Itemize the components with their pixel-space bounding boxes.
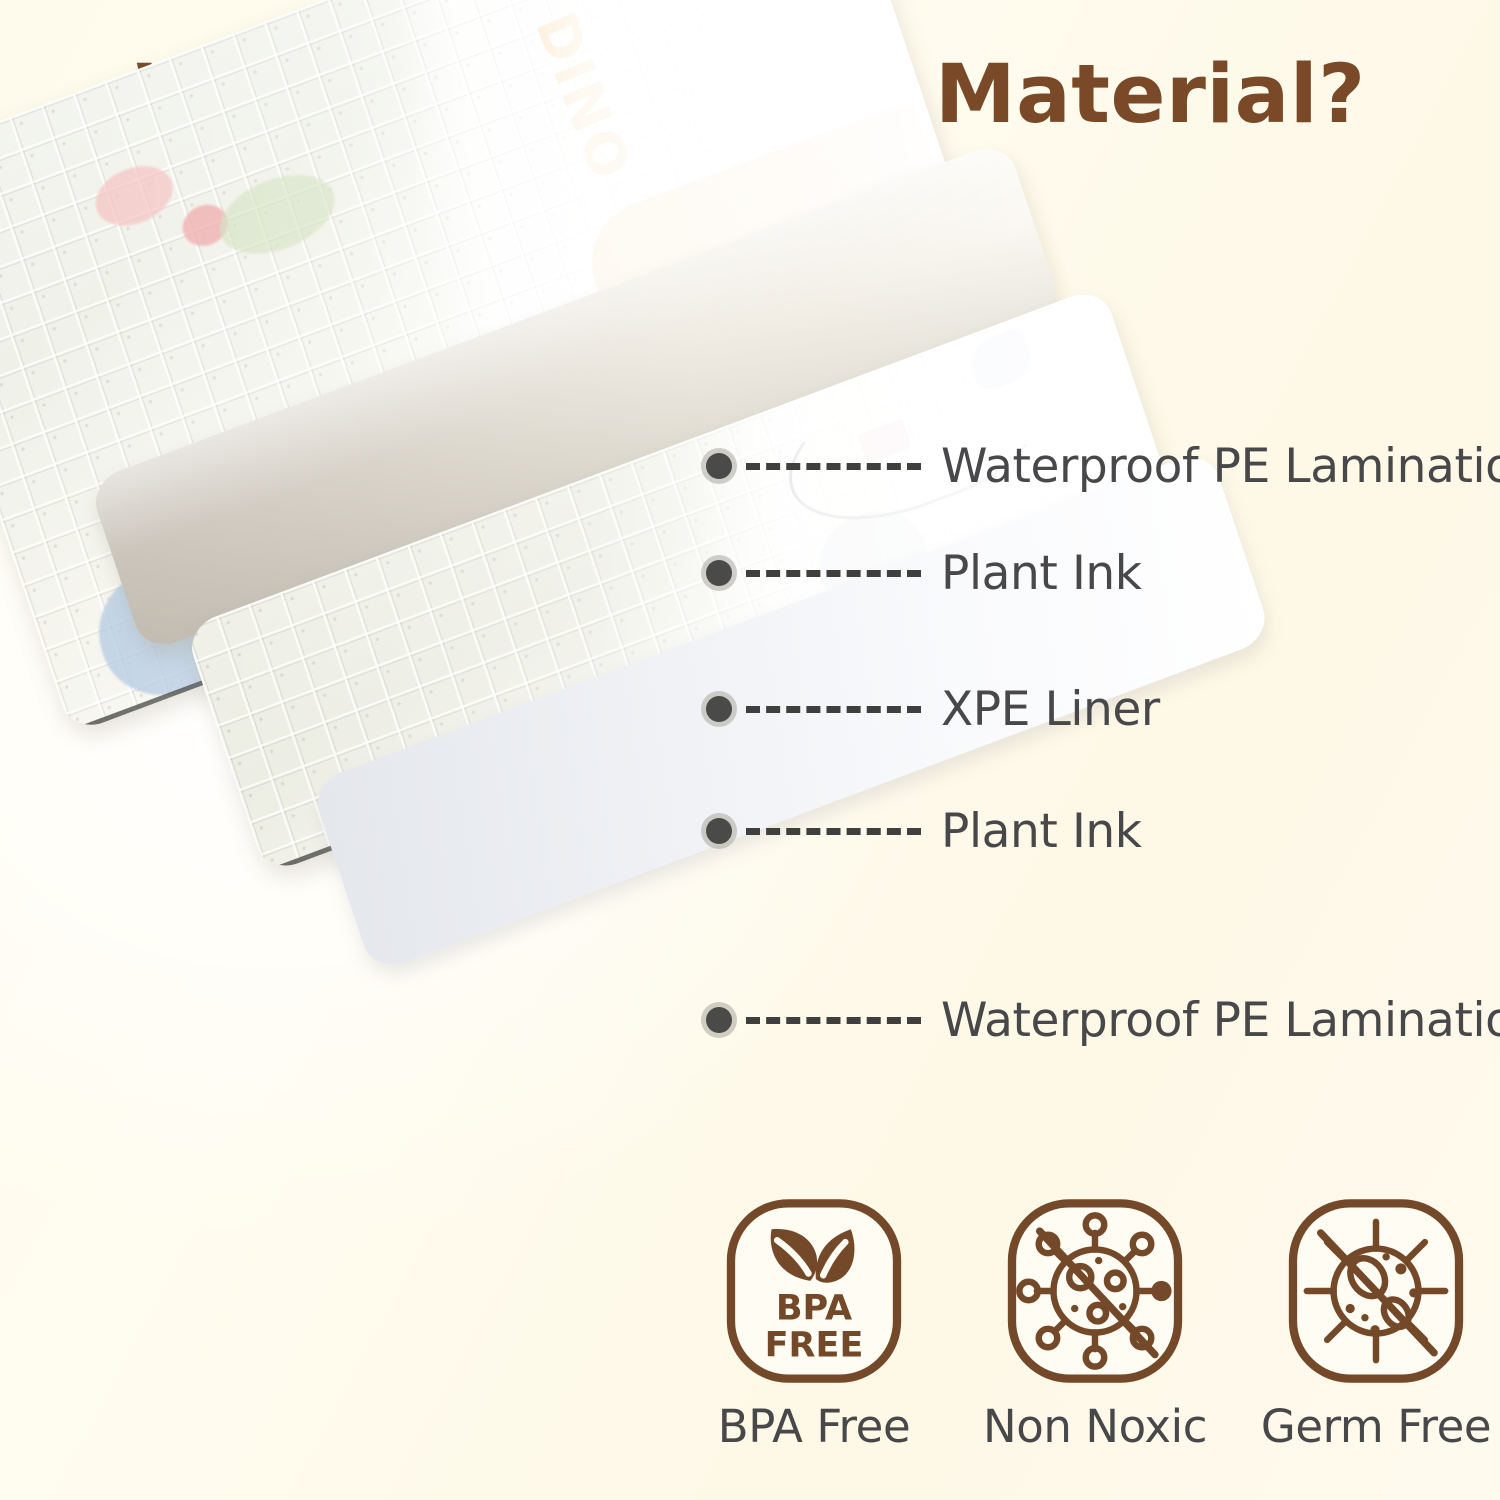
- callout-row-xpe-liner: XPE Liner: [706, 679, 1160, 739]
- callout-dot-icon: [706, 696, 732, 722]
- virus-slashed-icon: [1002, 1196, 1188, 1386]
- badge-germ-free: Germ Free: [1262, 1196, 1490, 1453]
- callout-dashed-leader: [746, 1017, 921, 1024]
- callout-row-plant-ink-bottom: Plant Ink: [706, 801, 1142, 861]
- callout-dot-icon: [706, 1007, 732, 1033]
- badge-label: Non Noxic: [983, 1400, 1207, 1453]
- callout-dot-icon: [706, 560, 732, 586]
- badge-label: BPA Free: [718, 1400, 911, 1453]
- callout-dashed-leader: [746, 828, 921, 835]
- badge-bpa-free: BPA FREE BPA Free: [700, 1196, 928, 1453]
- infographic-canvas: Why Choose XPE Material? DINO: [0, 0, 1500, 1500]
- badge-inner-line1: BPA: [776, 1288, 852, 1329]
- callout-dot-icon: [706, 818, 732, 844]
- callout-row-waterproof-pe-lamination-bottom: Waterproof PE Lamination: [706, 990, 1500, 1050]
- callout-label: Waterproof PE Lamination: [941, 439, 1500, 494]
- callout-label: Waterproof PE Lamination: [941, 993, 1500, 1048]
- callout-label: Plant Ink: [941, 546, 1142, 601]
- leaf-bpa-free-icon: BPA FREE: [721, 1196, 907, 1386]
- product-layer-stack-photo: DINO: [0, 150, 800, 1250]
- badge-inner-line2: FREE: [765, 1324, 864, 1365]
- germ-slashed-icon: [1283, 1196, 1469, 1386]
- badge-label: Germ Free: [1261, 1400, 1491, 1453]
- callout-dashed-leader: [746, 706, 921, 713]
- callout-label: Plant Ink: [941, 804, 1142, 859]
- callout-dashed-leader: [746, 463, 921, 470]
- certification-badge-group: BPA FREE BPA Free: [700, 1196, 1490, 1486]
- callout-row-waterproof-pe-lamination-top: Waterproof PE Lamination: [706, 436, 1500, 496]
- callout-dot-icon: [706, 453, 732, 479]
- callout-dashed-leader: [746, 570, 921, 577]
- callout-row-plant-ink-top: Plant Ink: [706, 543, 1142, 603]
- callout-list: Waterproof PE Lamination Plant Ink XPE L…: [706, 0, 1500, 1120]
- badge-non-noxic: Non Noxic: [981, 1196, 1209, 1453]
- callout-label: XPE Liner: [941, 682, 1160, 737]
